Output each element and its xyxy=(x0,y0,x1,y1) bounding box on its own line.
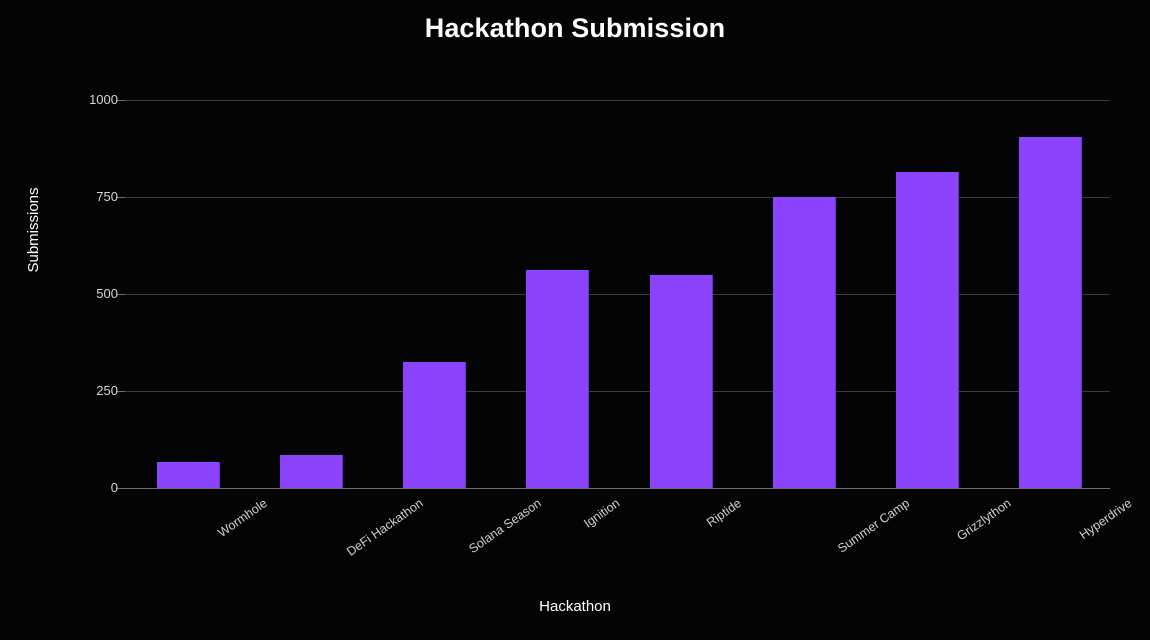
chart-title: Hackathon Submission xyxy=(0,13,1150,44)
bar[interactable] xyxy=(773,197,836,488)
x-tick-label: Summer Camp xyxy=(835,496,912,556)
bar[interactable] xyxy=(157,462,220,488)
gridline xyxy=(125,488,1110,489)
x-tick-label: Grizzlython xyxy=(955,496,1014,543)
bar[interactable] xyxy=(1019,137,1082,488)
y-tick-label: 500 xyxy=(58,287,118,300)
x-tick-label: Ignition xyxy=(581,496,622,531)
y-tick-label: 0 xyxy=(58,481,118,494)
y-axis-title-label: Submissions xyxy=(20,160,48,300)
x-axis-title: Hackathon xyxy=(0,598,1150,615)
y-tick-label: 250 xyxy=(58,384,118,397)
y-tick-label: 750 xyxy=(58,190,118,203)
y-axis-title: Submissions xyxy=(20,216,48,244)
y-tick-label: 1000 xyxy=(58,93,118,106)
x-tick-label: DeFi Hackathon xyxy=(344,496,425,559)
bars-group xyxy=(125,100,1110,488)
plot-area xyxy=(125,100,1110,488)
bar[interactable] xyxy=(896,172,959,488)
x-tick-label: Riptide xyxy=(704,496,744,530)
x-tick-label: Wormhole xyxy=(215,496,270,540)
bar[interactable] xyxy=(403,362,466,488)
chart-container: Hackathon Submission Submissions 0250500… xyxy=(0,0,1150,640)
bar[interactable] xyxy=(280,455,343,488)
x-tick-label: Hyperdrive xyxy=(1077,496,1135,542)
bar[interactable] xyxy=(650,275,713,488)
x-tick-label: Solana Season xyxy=(466,496,543,556)
bar[interactable] xyxy=(526,270,589,488)
